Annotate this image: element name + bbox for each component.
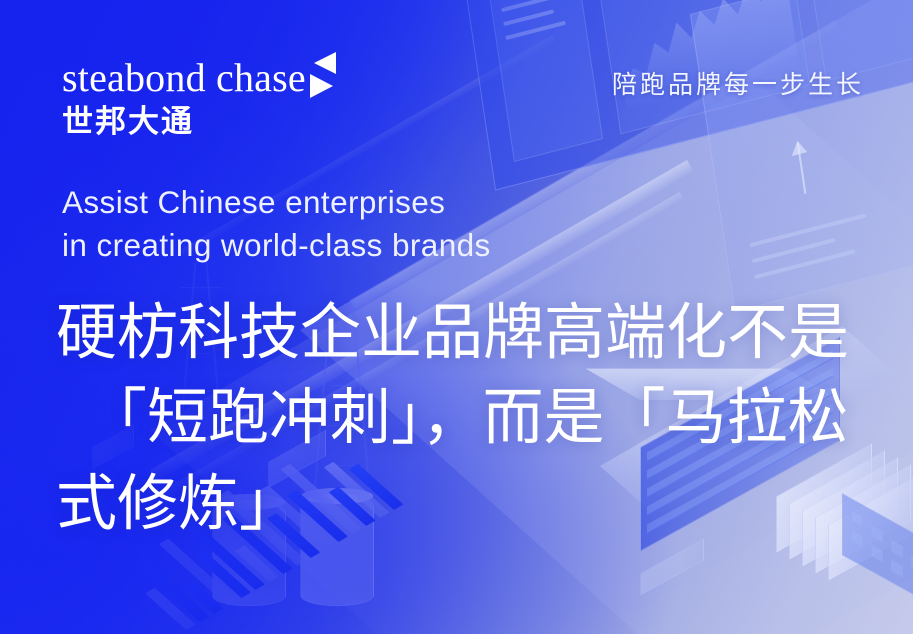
english-subtitle: Assist Chinese enterprises in creating w…: [62, 181, 491, 266]
headline-line-2: 「短跑冲刺」，而是「马拉松: [56, 375, 876, 460]
tagline: 陪跑品牌每一步生长: [612, 72, 864, 100]
page-title: 硬枋科技企业品牌高端化不是 「短跑冲刺」，而是「马拉松 式修炼」: [56, 290, 876, 546]
headline-line-3: 式修炼」: [56, 461, 876, 546]
poster-content: steabond chase 世邦大通 陪跑品牌每一步生长 Assist Chi…: [0, 0, 913, 634]
brand-wordmark: steabond chase: [62, 58, 306, 98]
brand-logo[interactable]: steabond chase 世邦大通: [62, 58, 336, 140]
headline-line-1: 硬枋科技企业品牌高端化不是: [56, 290, 876, 375]
triangle-left-icon: [314, 52, 336, 74]
poster-canvas: steabond chase 世邦大通 陪跑品牌每一步生长 Assist Chi…: [0, 0, 913, 634]
logo-row: steabond chase: [62, 58, 336, 98]
triangle-right-icon: [310, 74, 333, 98]
brand-chinese-name: 世邦大通: [62, 104, 336, 140]
subtitle-line-2: in creating world-class brands: [62, 224, 491, 267]
subtitle-line-1: Assist Chinese enterprises: [62, 181, 491, 224]
double-triangle-logo-mark-icon: [310, 52, 336, 98]
